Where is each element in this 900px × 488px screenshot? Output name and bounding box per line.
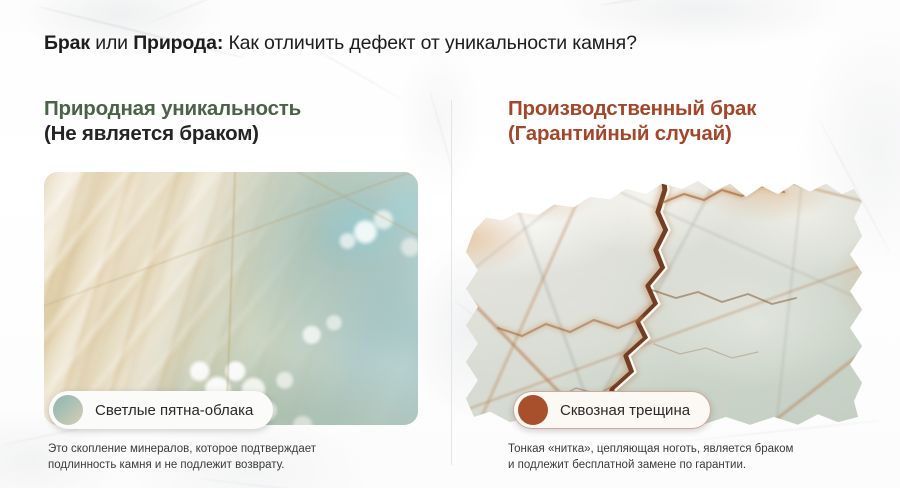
column-defect-title-line-2: (Гарантийный случай) — [508, 121, 888, 146]
column-divider — [451, 100, 452, 465]
page-title-normal-1: или — [90, 32, 133, 54]
page-title-bold-2: Природа: — [133, 32, 223, 54]
defect-caption-line-2: и подлежит бесплатной замене по гарантии… — [508, 457, 793, 473]
defect-caption-line-1: Тонкая «нитка», цепляющая ноготь, являет… — [508, 441, 793, 457]
badge-label: Светлые пятна-облака — [95, 402, 253, 419]
badge-through-crack[interactable]: Сквозная трещина — [513, 391, 711, 429]
stone-polish-sheen — [44, 172, 418, 425]
badge-light-cloud-spots[interactable]: Светлые пятна-облака — [49, 391, 273, 429]
page-title-normal-2: Как отличить дефект от уникальности камн… — [223, 32, 637, 54]
marble-vein — [600, 0, 847, 5]
marble-vein — [150, 0, 280, 23]
natural-caption: Это скопление минералов, которое подтвер… — [48, 441, 316, 473]
column-natural-title-line-1: Природная уникальность — [44, 96, 424, 121]
slide-canvas: Брак или Природа: Как отличить дефект от… — [0, 0, 900, 488]
column-defect: Производственный брак (Гарантийный случа… — [508, 96, 888, 146]
page-title-bold-1: Брак — [44, 32, 90, 54]
badge-label: Сквозная трещина — [560, 402, 690, 419]
badge-swatch-icon — [518, 395, 548, 425]
column-natural: Природная уникальность (Не является брак… — [44, 96, 424, 146]
natural-caption-line-1: Это скопление минералов, которое подтвер… — [48, 441, 316, 457]
marble-vein — [200, 478, 399, 488]
page-title: Брак или Природа: Как отличить дефект от… — [44, 32, 637, 55]
column-defect-title-line-1: Производственный брак — [508, 96, 888, 121]
natural-caption-line-2: подлинность камня и не подлежит возврату… — [48, 457, 316, 473]
natural-stone-photo — [44, 172, 418, 425]
badge-swatch-icon — [53, 395, 83, 425]
defect-caption: Тонкая «нитка», цепляющая ноготь, являет… — [508, 441, 793, 473]
column-natural-title-line-2: (Не является браком) — [44, 121, 424, 146]
